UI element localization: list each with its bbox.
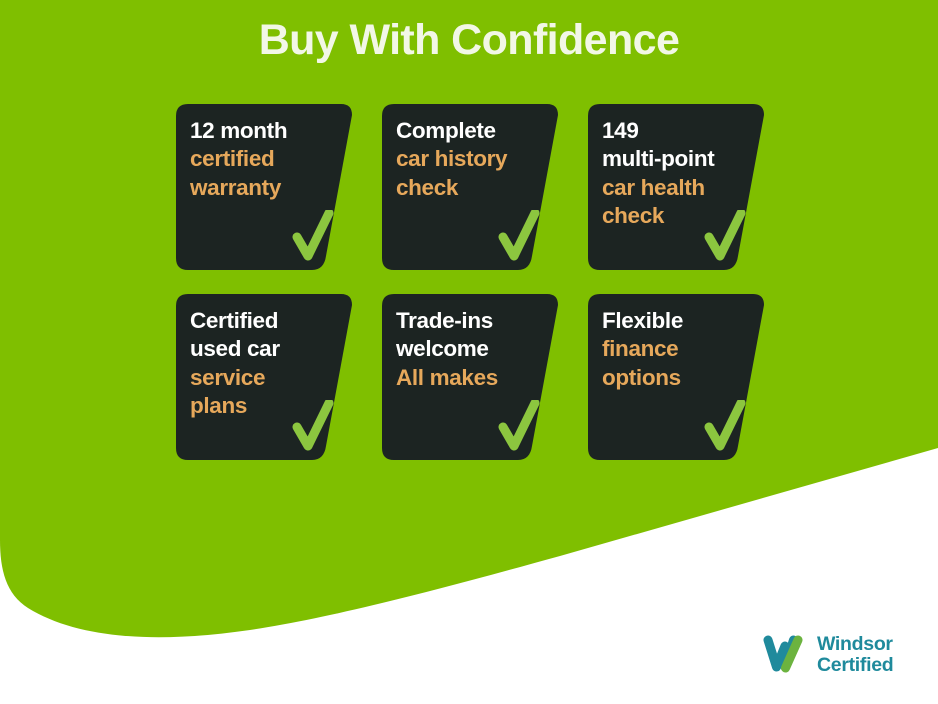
windsor-certified-logo: Windsor Certified: [762, 627, 928, 683]
card-line: All makes: [396, 364, 546, 392]
checkmark-icon: [498, 400, 540, 452]
benefit-card-flexible-finance[interactable]: Flexiblefinanceoptions: [588, 294, 764, 460]
card-line: check: [396, 174, 546, 202]
windsor-w-icon: [762, 635, 808, 675]
card-line: Flexible: [602, 307, 752, 335]
card-line: welcome: [396, 335, 546, 363]
card-line: Complete: [396, 117, 546, 145]
promo-banner: Buy With Confidence 12 monthcertifiedwar…: [0, 0, 938, 704]
card-line: Trade-ins: [396, 307, 546, 335]
logo-line-windsor: Windsor: [817, 634, 893, 655]
logo-line-certified: Certified: [817, 655, 893, 676]
card-text-block: 12 monthcertifiedwarranty: [190, 117, 340, 202]
card-line: 149: [602, 117, 752, 145]
benefit-card-service-plans[interactable]: Certifiedused carserviceplans: [176, 294, 352, 460]
card-line: warranty: [190, 174, 340, 202]
benefit-card-multi-point-health-check[interactable]: 149multi-pointcar healthcheck: [588, 104, 764, 270]
card-line: options: [602, 364, 752, 392]
benefit-card-grid: 12 monthcertifiedwarrantyCompletecar his…: [176, 104, 766, 460]
card-line: service: [190, 364, 340, 392]
card-line: Certified: [190, 307, 340, 335]
card-text-block: Completecar historycheck: [396, 117, 546, 202]
card-text-block: Flexiblefinanceoptions: [602, 307, 752, 392]
card-line: used car: [190, 335, 340, 363]
card-line: finance: [602, 335, 752, 363]
benefit-card-car-history-check[interactable]: Completecar historycheck: [382, 104, 558, 270]
checkmark-icon: [292, 400, 334, 452]
benefit-card-trade-ins[interactable]: Trade-inswelcomeAll makes: [382, 294, 558, 460]
checkmark-icon: [498, 210, 540, 262]
card-line: car history: [396, 145, 546, 173]
card-line: certified: [190, 145, 340, 173]
card-line: 12 month: [190, 117, 340, 145]
logo-wordmark: Windsor Certified: [817, 634, 893, 676]
card-line: car health: [602, 174, 752, 202]
card-text-block: Trade-inswelcomeAll makes: [396, 307, 546, 392]
page-title: Buy With Confidence: [0, 16, 938, 64]
checkmark-icon: [704, 400, 746, 452]
checkmark-icon: [704, 210, 746, 262]
card-line: multi-point: [602, 145, 752, 173]
benefit-card-certified-warranty[interactable]: 12 monthcertifiedwarranty: [176, 104, 352, 270]
checkmark-icon: [292, 210, 334, 262]
